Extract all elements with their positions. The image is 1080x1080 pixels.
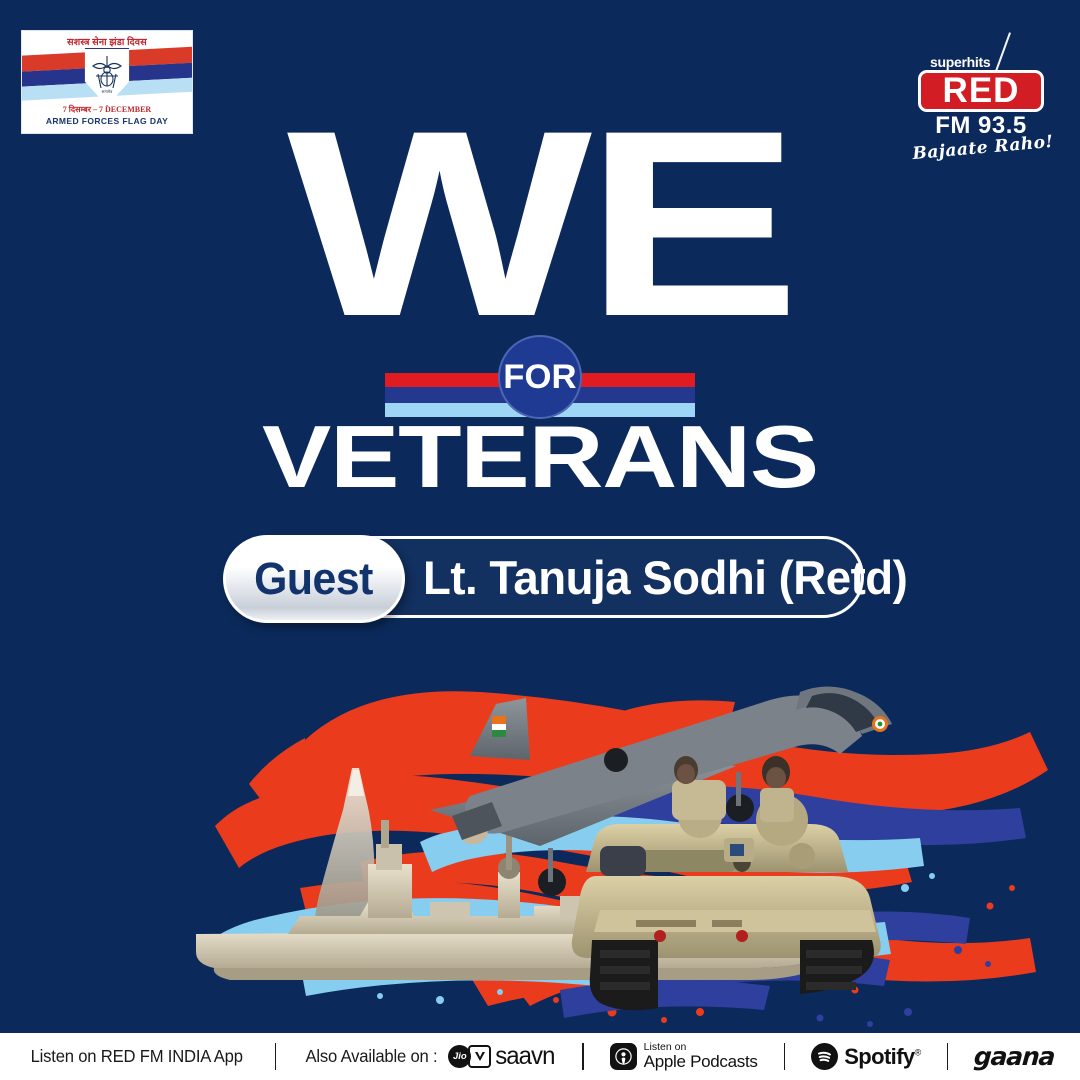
footer-divider [275,1043,277,1070]
footer-divider [947,1043,949,1070]
poster-canvas: सशस्त्र सेना झंडा दिवस सत्यमेव [0,0,1080,1080]
spotify-wordmark: Spotify® [844,1044,920,1070]
headline-veterans: VETERANS [0,411,1080,503]
footer-spotify: Spotify® [811,1043,920,1070]
superhits-label: superhits [930,54,990,70]
for-badge-label: FOR [503,358,576,397]
guest-bar: Guest Lt. Tanuja Sodhi (Retd) [224,536,864,618]
gaana-wordmark: gaana [973,1042,1055,1071]
guest-label-pill: Guest [223,535,405,623]
footer-divider [582,1043,584,1070]
footer-also-text: Also Available on : [306,1046,438,1067]
footer-gaana: gaana [974,1042,1054,1071]
antenna-icon [994,32,1011,74]
guest-name: Lt. Tanuja Sodhi (Retd) [423,539,907,615]
jiosaavn-logo: Jio saavn [448,1042,556,1071]
guest-label: Guest [255,553,374,605]
headline-we: WE [0,92,1080,357]
footer-app: Listen on RED FM INDIA App [25,1046,248,1067]
spotify-trademark: ® [915,1047,921,1057]
apple-podcasts-text: Listen on Apple Podcasts [644,1042,758,1072]
military-artwork: D63 [0,620,1080,1040]
apple-podcasts-name: Apple Podcasts [644,1053,758,1071]
saavn-icon [468,1045,491,1068]
footer-divider [784,1043,786,1070]
footer-apple-podcasts: Listen on Apple Podcasts [610,1042,758,1072]
footer-jiosaavn: Also Available on : Jio saavn [302,1042,556,1071]
spotify-icon [811,1043,838,1070]
flag-day-hindi-title: सशस्त्र सेना झंडा दिवस [22,35,192,48]
apple-podcasts-icon [610,1043,637,1070]
saavn-wordmark: saavn [496,1042,555,1071]
footer-bar: Listen on RED FM INDIA App Also Availabl… [0,1033,1080,1080]
footer-app-text: Listen on RED FM INDIA App [31,1046,243,1067]
